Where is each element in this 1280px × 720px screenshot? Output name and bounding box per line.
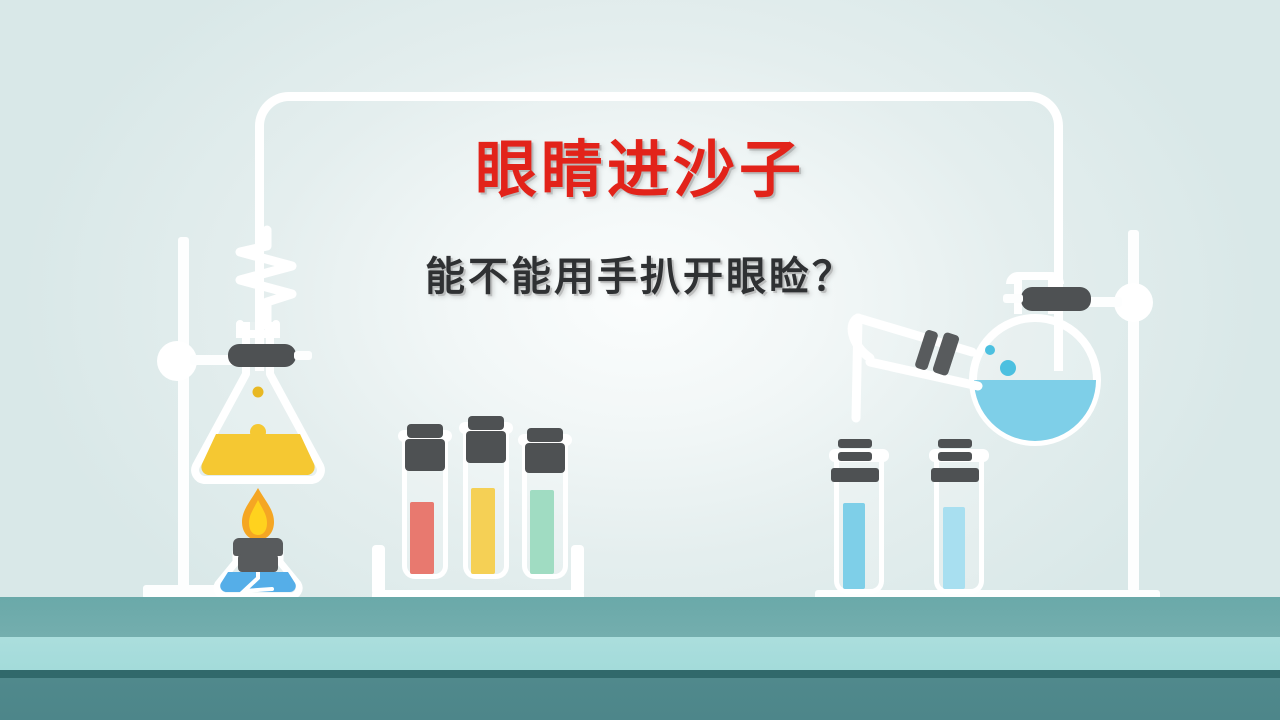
page-title: 眼睛进沙子	[0, 140, 1280, 202]
tube-band-top	[938, 439, 972, 448]
tube-stopper	[466, 431, 506, 463]
tube-cap	[527, 428, 563, 442]
test-tube-green	[522, 428, 568, 579]
tube-cap	[468, 416, 504, 430]
scene-canvas: 眼睛进沙子 能不能用手扒开眼睑？	[0, 0, 1280, 720]
title-block: 眼睛进沙子 能不能用手扒开眼睑？	[0, 140, 1280, 297]
tube-liquid	[471, 488, 495, 574]
tube-stopper	[525, 443, 565, 473]
collect-tube-left	[834, 435, 884, 595]
test-tube-rack-leg-left	[372, 545, 385, 595]
tube-band-top	[838, 439, 872, 448]
tube-band-low	[931, 468, 979, 482]
left-flask-clamp	[228, 344, 296, 367]
tube-band-low	[831, 468, 879, 482]
table-surface	[0, 597, 1280, 637]
table-edge-band	[0, 637, 1280, 670]
table-shadow-line	[0, 670, 1280, 678]
burner-cap-collar	[238, 554, 278, 572]
test-tube-rack-leg-right	[571, 545, 584, 595]
tube-cap	[407, 424, 443, 438]
tube-band-mid	[938, 452, 972, 461]
left-clamp-tail	[294, 351, 312, 360]
table-front-panel	[0, 678, 1280, 720]
page-subtitle: 能不能用手扒开眼睑？	[0, 257, 1280, 297]
tube-liquid	[530, 490, 554, 574]
test-tube-red	[402, 424, 448, 579]
test-tube-yellow	[463, 416, 509, 579]
tube-band-mid	[838, 452, 872, 461]
tube-liquid	[410, 502, 434, 574]
tube-stopper	[405, 439, 445, 471]
collect-tube-right	[934, 435, 984, 595]
tube-liquid	[943, 507, 965, 589]
tube-liquid	[843, 503, 865, 589]
